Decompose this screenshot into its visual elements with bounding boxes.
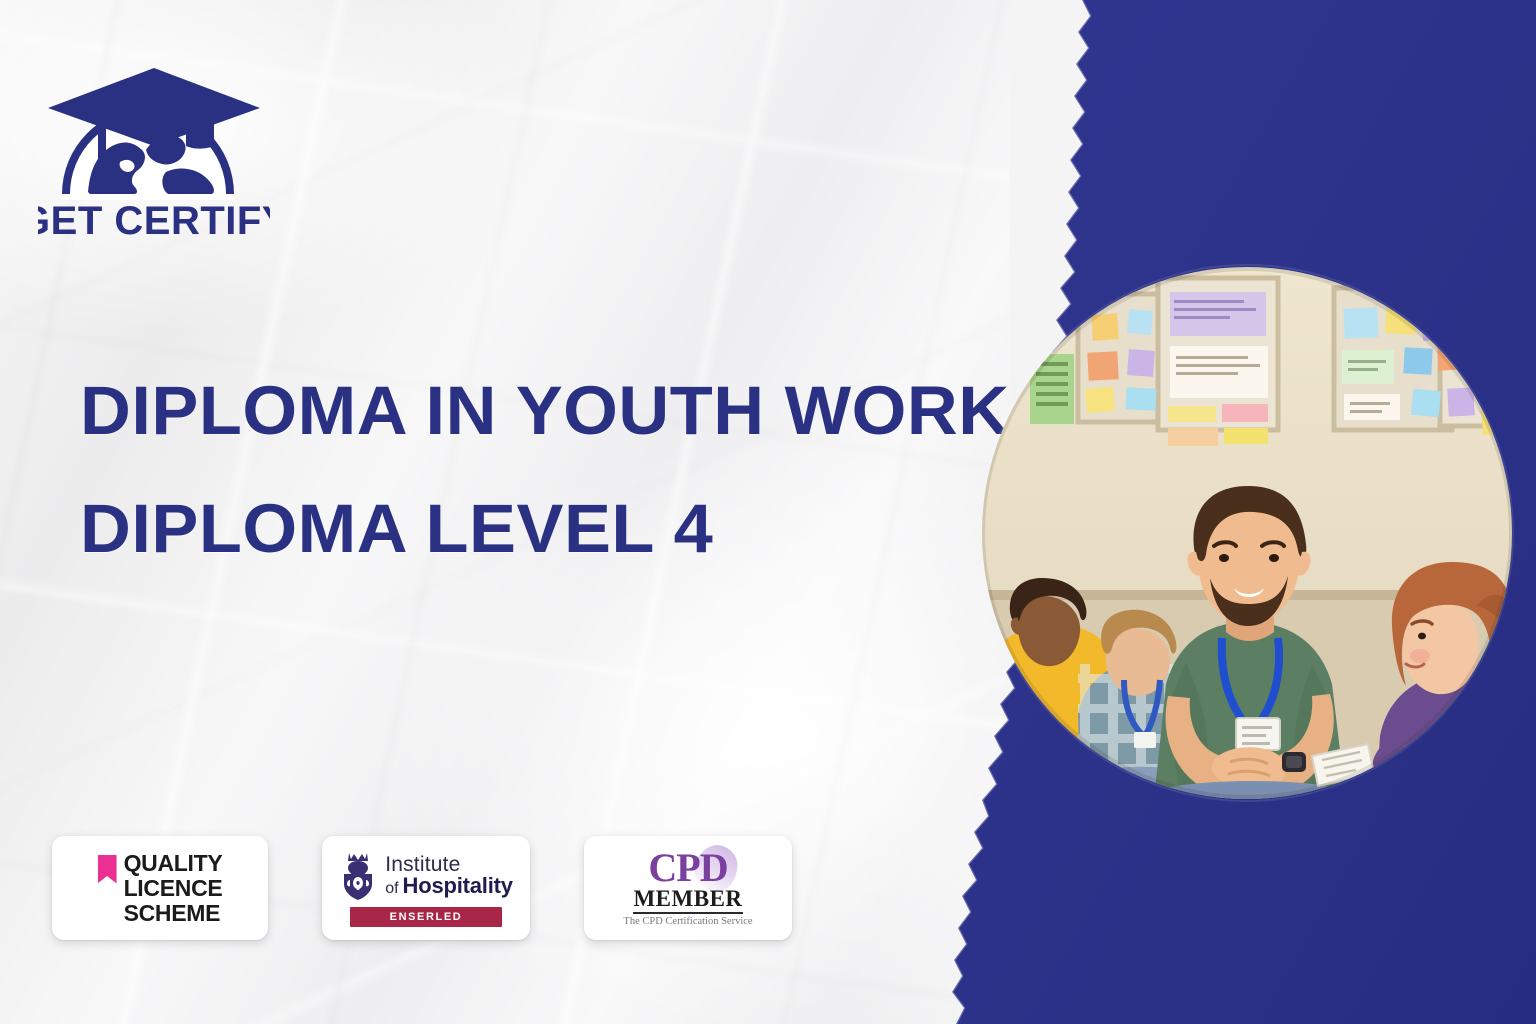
title-line-2: Diploma Level 4	[80, 470, 906, 588]
qls-line-2: Licence	[124, 876, 223, 901]
accreditation-badges: Quality Licence Scheme	[52, 836, 792, 940]
cpd-member-label: MEMBER	[633, 887, 742, 914]
ioh-line-2: Hospitality	[403, 875, 513, 897]
title-line-1: Diploma in Youth Work	[80, 352, 906, 470]
ioh-of: of	[385, 881, 398, 897]
course-banner: GET CERTIFY Diploma in Youth Work Diplom…	[0, 0, 1536, 1024]
badge-cpd-member[interactable]: CPD MEMBER The CPD Certification Service	[584, 836, 792, 940]
course-photo	[982, 266, 1512, 800]
ioh-line-1: Institute	[385, 854, 513, 875]
badge-institute-of-hospitality[interactable]: Institute of Hospitality ENSERLED	[322, 836, 530, 940]
cpd-subtitle: The CPD Certification Service	[623, 916, 752, 928]
cpd-acronym: CPD	[648, 849, 727, 887]
page-title: Diploma in Youth Work Diploma Level 4	[80, 352, 890, 588]
bookmark-icon	[98, 855, 117, 884]
badge-quality-licence-scheme[interactable]: Quality Licence Scheme	[52, 836, 268, 940]
ioh-endorsed-banner: ENSERLED	[350, 907, 502, 927]
brand-logo[interactable]: GET CERTIFY	[38, 42, 270, 242]
qls-line-3: Scheme	[124, 901, 223, 926]
heraldic-crest-icon	[339, 850, 377, 902]
brand-logo-text: GET CERTIFY	[38, 199, 270, 242]
graduation-cap-globe-icon	[48, 68, 260, 200]
qls-line-1: Quality	[124, 851, 223, 876]
